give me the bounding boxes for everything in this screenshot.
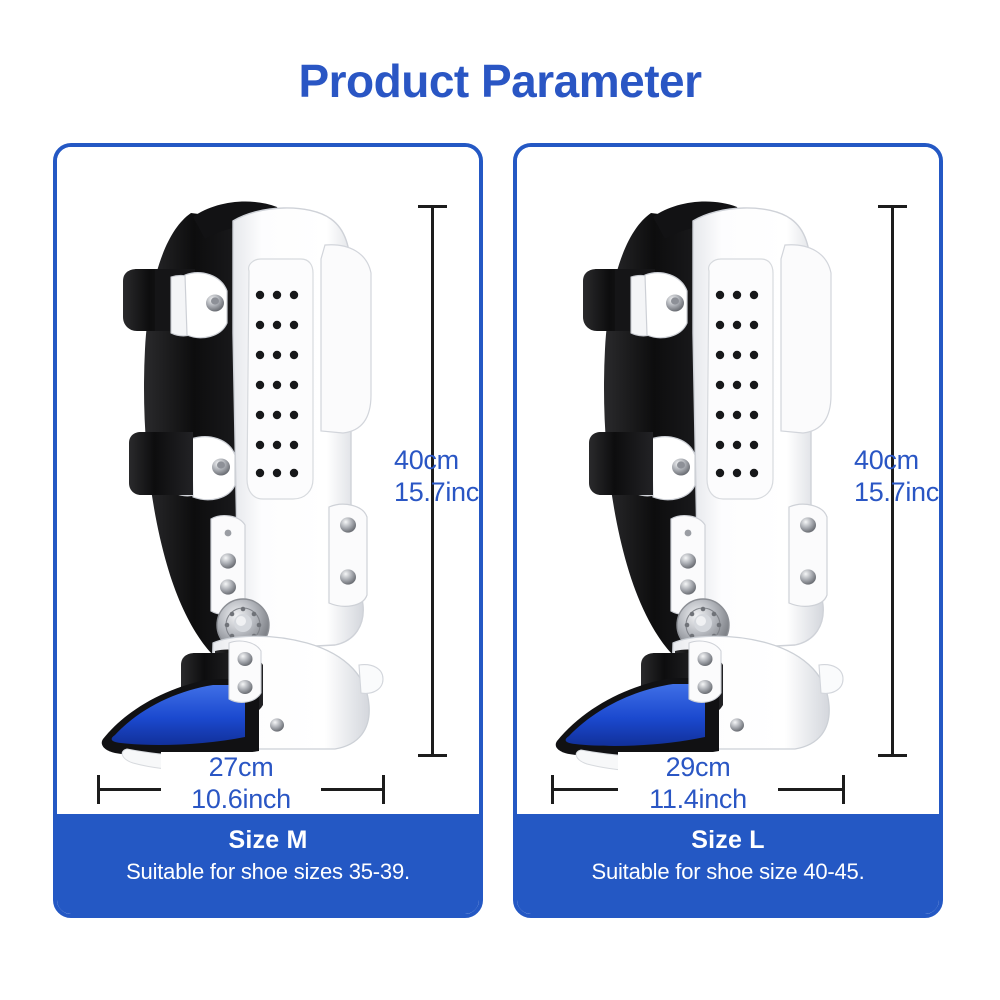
width-value-inch: 10.6inch: [167, 784, 315, 816]
product-illustration-m: [63, 173, 403, 793]
size-description-m: Suitable for shoe sizes 35-39.: [57, 858, 479, 887]
size-description-l: Suitable for shoe size 40-45.: [517, 858, 939, 887]
height-value-inch: 15.7inch: [854, 477, 939, 509]
width-dimension-label-m: 27cm 10.6inch: [161, 752, 321, 816]
width-dimension-label-l: 29cm 11.4inch: [618, 752, 778, 816]
dimension-cap-right: [382, 775, 385, 804]
width-value-cm: 29cm: [624, 752, 772, 784]
height-dimension-label-m: 40cm 15.7inch: [394, 445, 479, 509]
page-title: Product Parameter: [0, 58, 1000, 104]
size-footer-l: Size L Suitable for shoe size 40-45.: [517, 814, 939, 914]
product-parameter-infographic: Product Parameter: [0, 0, 1000, 1000]
size-label-m: Size M: [57, 825, 479, 856]
height-value-inch: 15.7inch: [394, 477, 479, 509]
size-footer-m: Size M Suitable for shoe sizes 35-39.: [57, 814, 479, 914]
width-value-cm: 27cm: [167, 752, 315, 784]
product-illustration-l: [523, 173, 863, 793]
size-label-l: Size L: [517, 825, 939, 856]
product-image-area-m: 40cm 15.7inch 27cm 10.6inch: [57, 147, 479, 822]
dimension-cap-bottom: [418, 754, 447, 757]
product-image-area-l: 40cm 15.7inch 29cm 11.4inch: [517, 147, 939, 822]
size-card-m: 40cm 15.7inch 27cm 10.6inch Size M Suita…: [53, 143, 483, 918]
size-card-l: 40cm 15.7inch 29cm 11.4inch Size L Suita…: [513, 143, 943, 918]
width-value-inch: 11.4inch: [624, 784, 772, 816]
height-value-cm: 40cm: [394, 445, 479, 477]
height-value-cm: 40cm: [854, 445, 939, 477]
dimension-cap-right: [842, 775, 845, 804]
dimension-cap-bottom: [878, 754, 907, 757]
height-dimension-label-l: 40cm 15.7inch: [854, 445, 939, 509]
